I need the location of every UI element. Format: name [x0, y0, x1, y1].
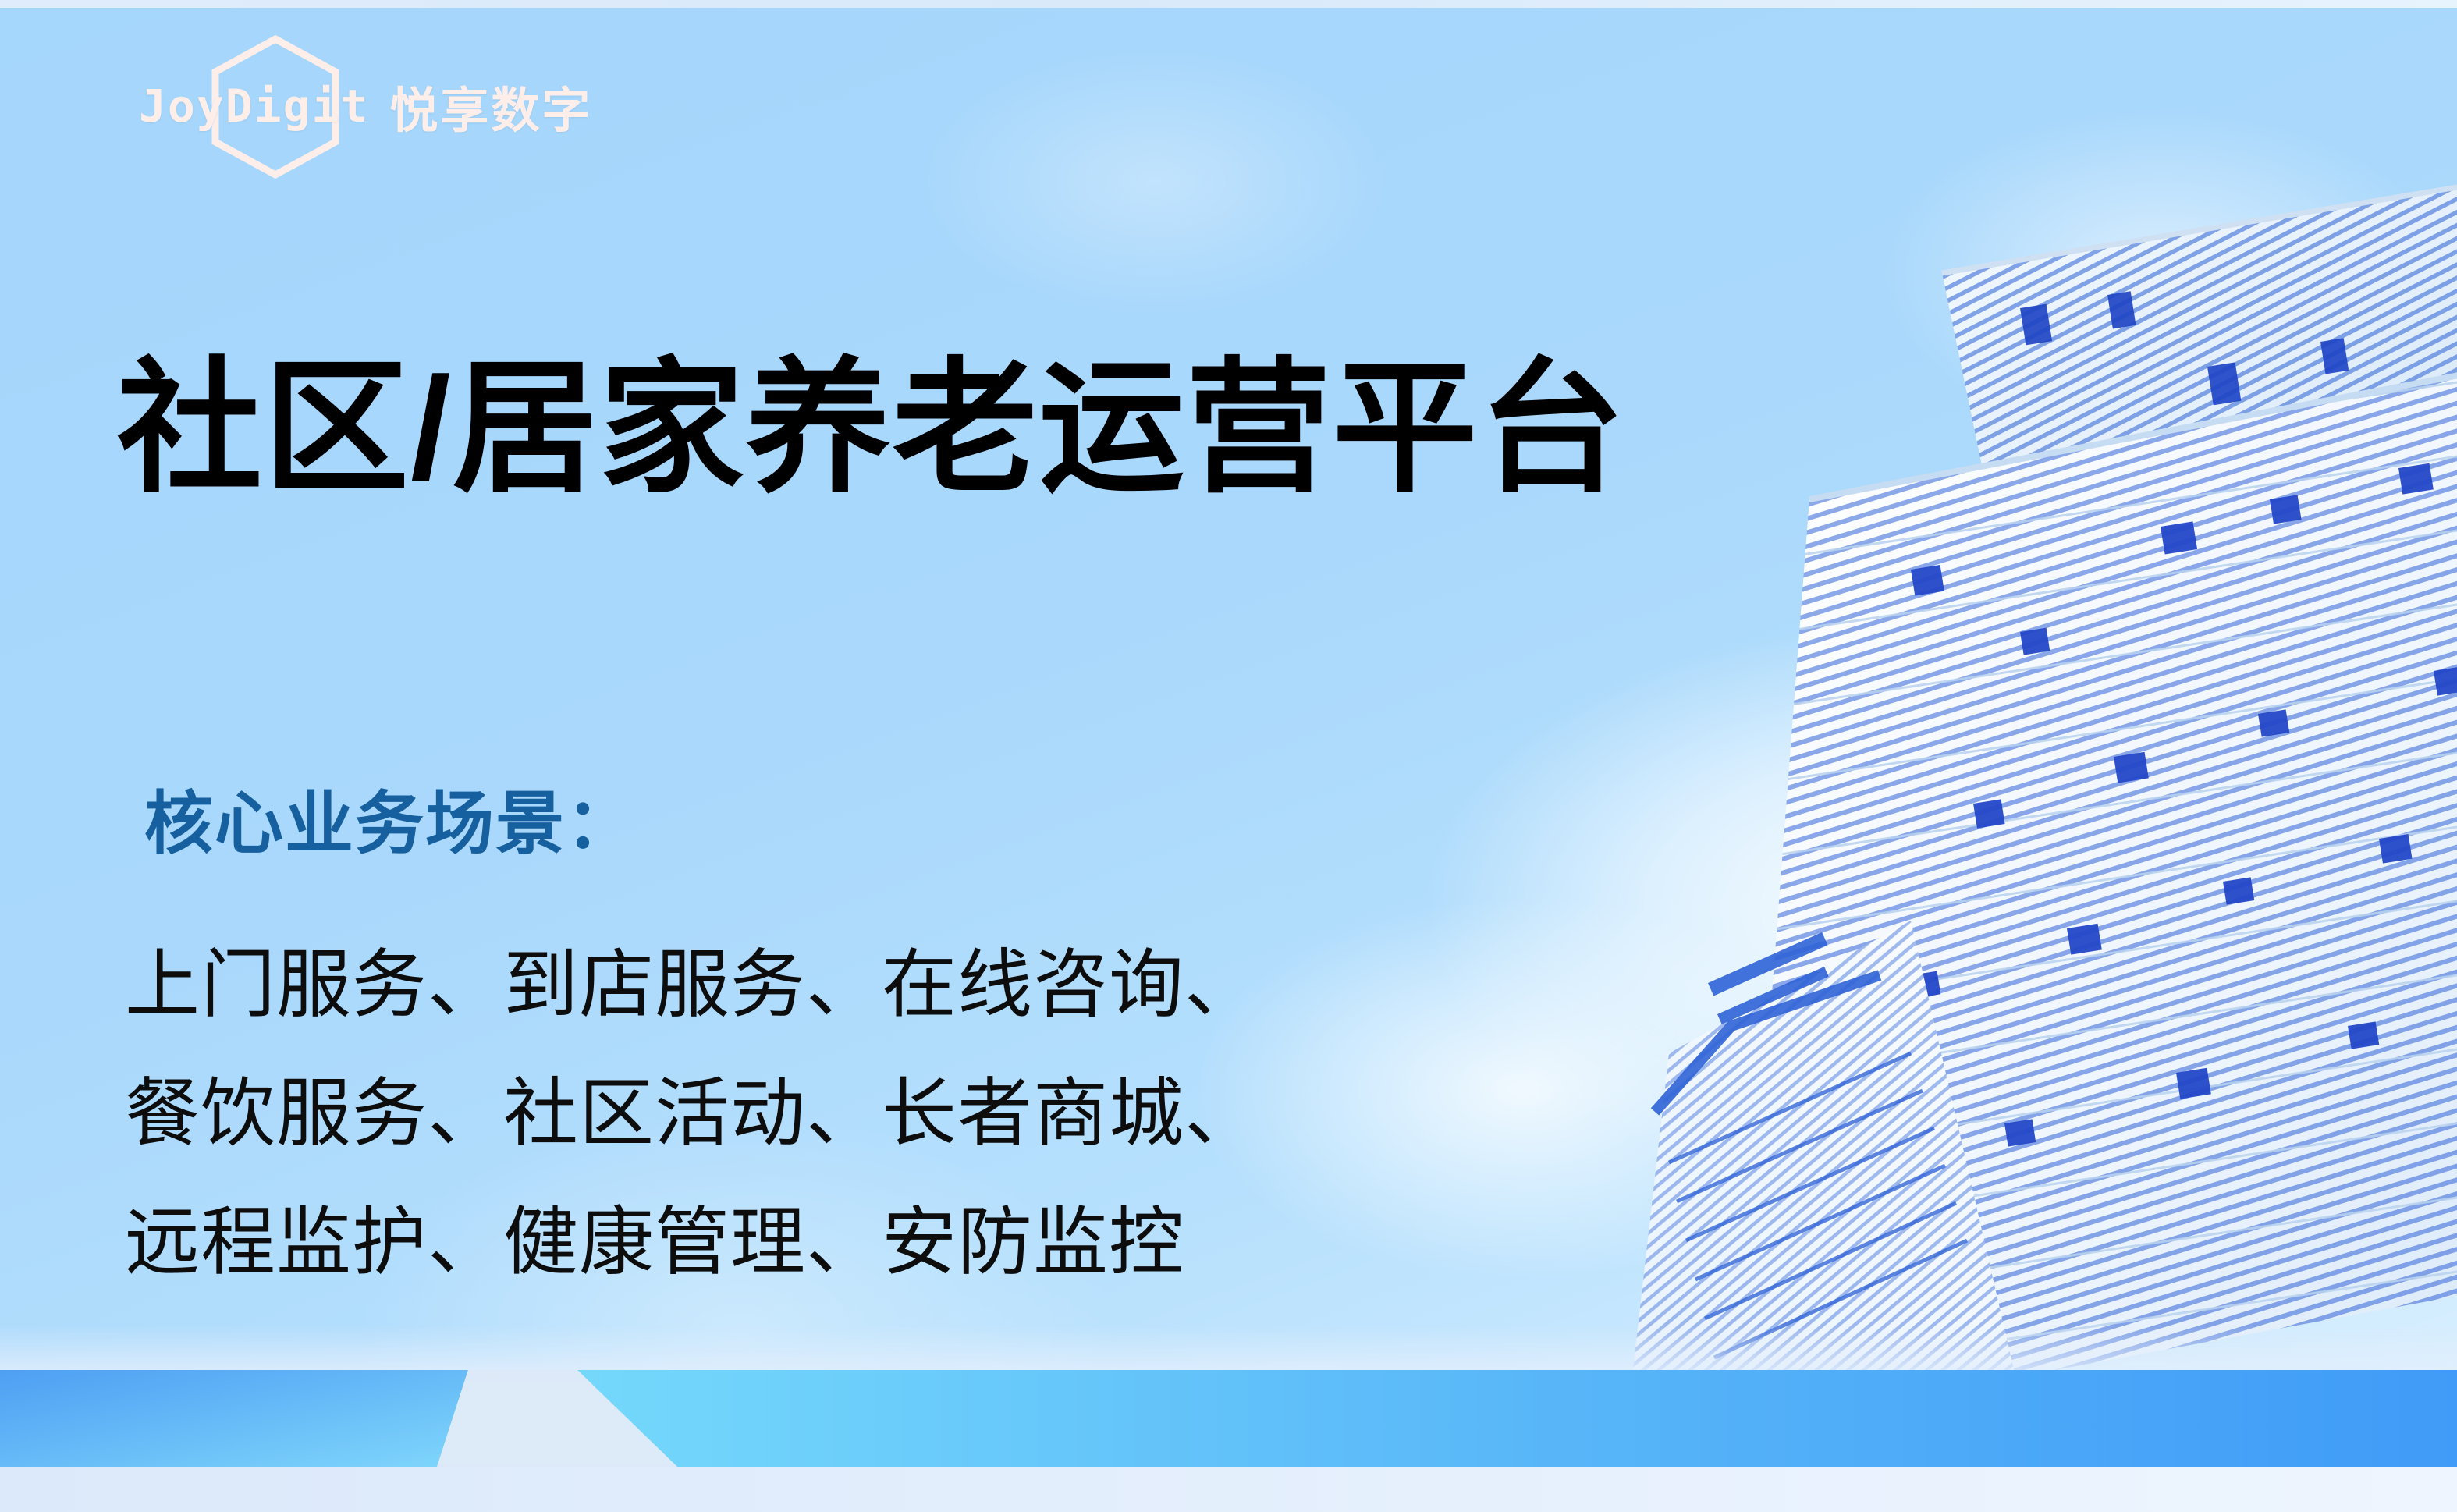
top-edge-strip: [0, 0, 2457, 8]
skyscraper-illustration: [1529, 133, 2457, 1381]
section-heading: 核心业务场景：: [144, 768, 636, 868]
page-title: 社区/居家养老运营平台: [117, 355, 1626, 503]
ribbon-shapes: [0, 1325, 2457, 1512]
scenario-line-2: 餐饮服务、社区活动、长者商城、: [125, 1049, 1260, 1178]
slide-canvas: JoyDigit 悦享数字 社区/居家养老运营平台 核心业务场景： 上门服务、到…: [0, 0, 2457, 1512]
scenario-line-1: 上门服务、到店服务、在线咨询、: [125, 921, 1260, 1049]
brand-logo[interactable]: JoyDigit 悦享数字: [139, 75, 592, 137]
scenario-list: 上门服务、到店服务、在线咨询、 餐饮服务、社区活动、长者商城、 远程监护、健康管…: [125, 921, 1260, 1307]
scenario-line-3: 远程监护、健康管理、安防监控: [125, 1178, 1260, 1307]
bottom-ribbon: [0, 1325, 2457, 1512]
brand-wordmark-cn: 悦享数字: [389, 71, 592, 141]
brand-wordmark: JoyDigit: [139, 80, 369, 133]
skyscraper-image: [1529, 133, 2457, 1381]
